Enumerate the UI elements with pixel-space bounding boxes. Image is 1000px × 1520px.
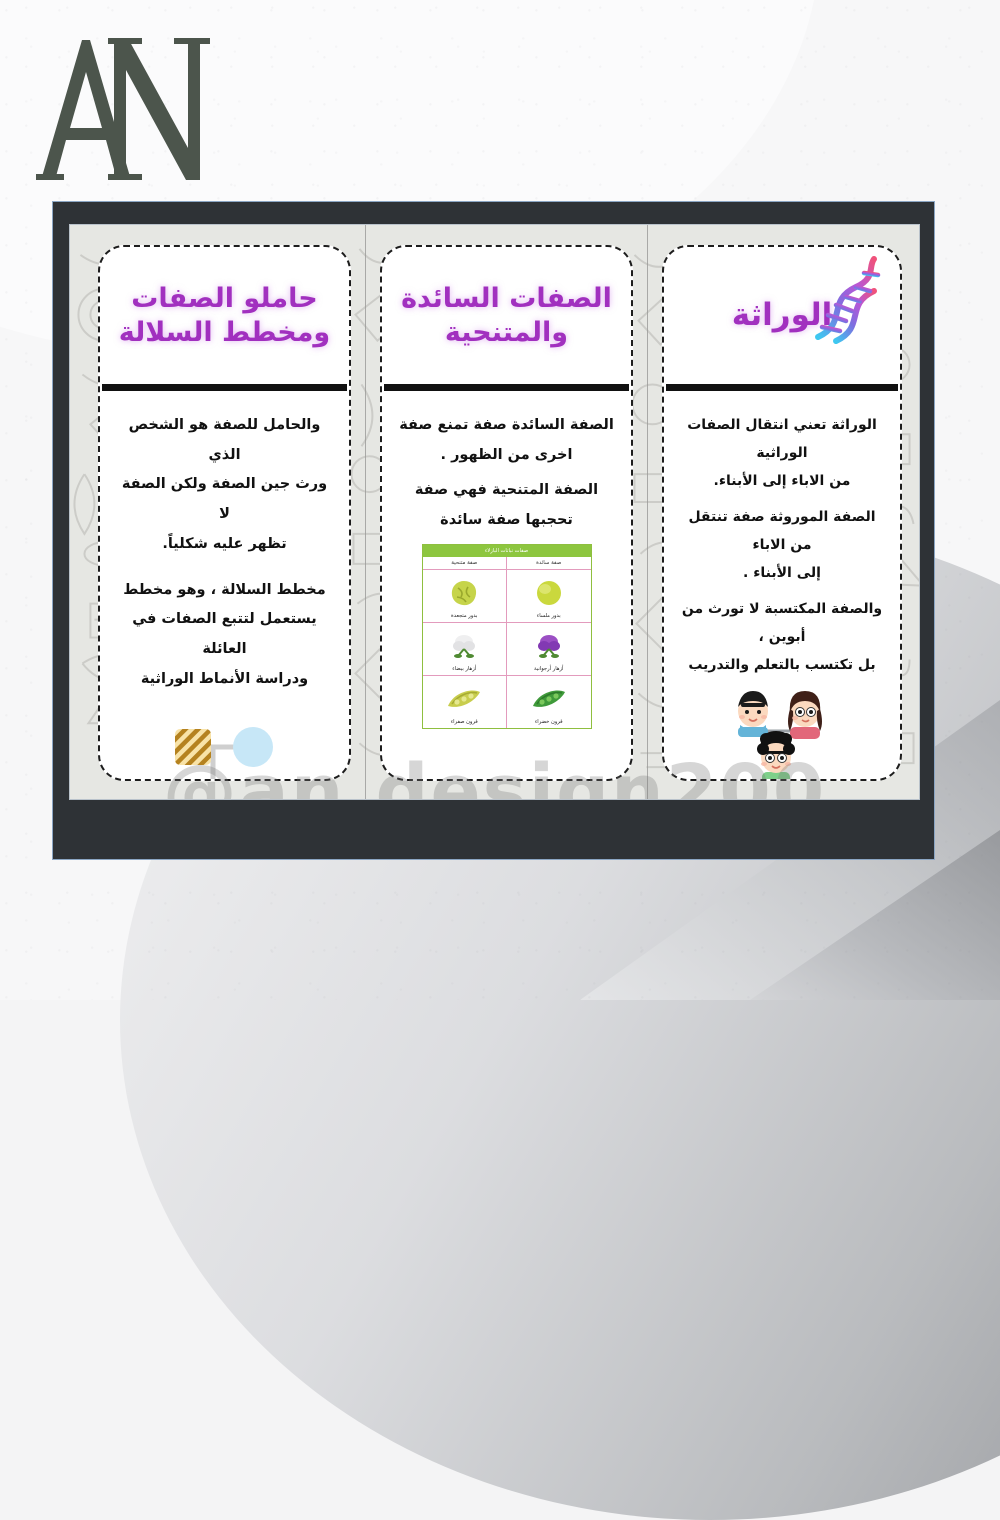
an-monogram-logo [28,22,218,197]
panel-body-heredity: الوراثة تعني انتقال الصفات الوراثية من ا… [664,391,900,781]
panel-divider-rule-carriers [102,384,347,391]
pea-caption-green-pod: قرون خضراء [509,718,589,725]
dna-helix-icon [802,253,888,345]
pea-table-column-headers: صفة سائدة صفة متنحية [423,557,591,570]
smooth-pea-seed-icon [509,574,589,612]
pea-cell-dominant-flower: أزهار أرجوانية [506,623,591,675]
pea-caption-smooth-seed: بذور ملساء [509,612,589,619]
white-flower-icon [425,627,505,665]
panel-body-carriers: والحامل للصفة هو الشخص الذي ورث جين الصف… [100,391,349,781]
pea-table-row-seeds: بذور ملساء بذور متجعدة [423,570,591,623]
paragraph-dominant-definition: الصفة السائدة صفة تمنع صفة اخرى من الظهو… [398,411,615,470]
pea-caption-wrinkled-seed: بذور متجعدة [425,612,505,619]
green-pod-icon [509,680,589,718]
pea-caption-white-flower: أزهار بيضاء [425,665,505,672]
pea-traits-table: صفات نباتات البازلاء صفة سائدة صفة متنحي… [422,544,592,729]
pea-cell-recessive-seed: بذور متجعدة [423,570,507,622]
mother-avatar [788,691,822,739]
child-avatar [757,731,795,781]
pea-table-row-flowers: أزهار أرجوانية أزهار بيضاء [423,623,591,676]
paragraph-recessive-definition: الصفة المتنحية فهي صفة تحجبها صفة سائدة [398,476,615,535]
panel-heredity: الوراثة الوراثة تعني انتقال الصفات الورا… [662,245,902,781]
pea-caption-purple-flower: أزهار أرجوانية [509,665,589,672]
pea-cell-recessive-flower: أزهار بيضاء [423,623,507,675]
fold-line-left [365,225,366,799]
panel-carriers-pedigree: حاملو الصفات ومخطط السلالة والحامل للصفة… [98,245,351,781]
panel-header-heredity: الوراثة [664,247,900,384]
panel-title-carriers: حاملو الصفات ومخطط السلالة [119,282,330,350]
yellow-pod-icon [425,680,505,718]
paragraph-inherited-trait: الصفة الموروثة صفة تنتقل من الاباء إلى ا… [680,503,884,587]
worksheet-page: حاملو الصفات ومخطط السلالة والحامل للصفة… [69,224,920,800]
panel-header-dominant: الصفات السائدة والمتنحية [382,247,631,384]
pea-cell-recessive-pod: قرون صفراء [423,676,507,728]
pea-caption-yellow-pod: قرون صفراء [425,718,505,725]
panel-dominant-recessive: الصفات السائدة والمتنحية الصفة السائدة ص… [380,245,633,781]
wrinkled-pea-seed-icon [425,574,505,612]
panel-divider-rule-heredity [666,384,898,391]
paragraph-pedigree-definition: مخطط السلالة ، وهو مخطط يستعمل لتتبع الص… [116,576,333,695]
pea-cell-dominant-pod: قرون خضراء [506,676,591,728]
paragraph-carrier-definition: والحامل للصفة هو الشخص الذي ورث جين الصف… [116,411,333,560]
family-tree-illustration [712,687,852,781]
panel-body-dominant: الصفة السائدة صفة تمنع صفة اخرى من الظهو… [382,391,631,737]
paragraph-heredity-definition: الوراثة تعني انتقال الصفات الوراثية من ا… [680,411,884,495]
fold-line-right [647,225,648,799]
pea-column-recessive: صفة متنحية [423,557,507,569]
paragraph-acquired-trait: والصفة المكتسبة لا تورث من أبوين ، بل تك… [680,595,884,679]
pea-table-row-pods: قرون خضراء قرون صفراء [423,676,591,728]
panel-divider-rule-dominant [384,384,629,391]
panel-title-dominant-recessive: الصفات السائدة والمتنحية [401,282,612,350]
purple-flower-icon [509,627,589,665]
pedigree-chart-figure [125,710,325,781]
father-avatar [738,691,768,737]
pea-column-dominant: صفة سائدة [506,557,591,569]
worksheet-frame: حاملو الصفات ومخطط السلالة والحامل للصفة… [52,201,935,860]
pea-cell-dominant-seed: بذور ملساء [506,570,591,622]
pea-table-header: صفات نباتات البازلاء [423,545,591,557]
panel-header-carriers: حاملو الصفات ومخطط السلالة [100,247,349,384]
